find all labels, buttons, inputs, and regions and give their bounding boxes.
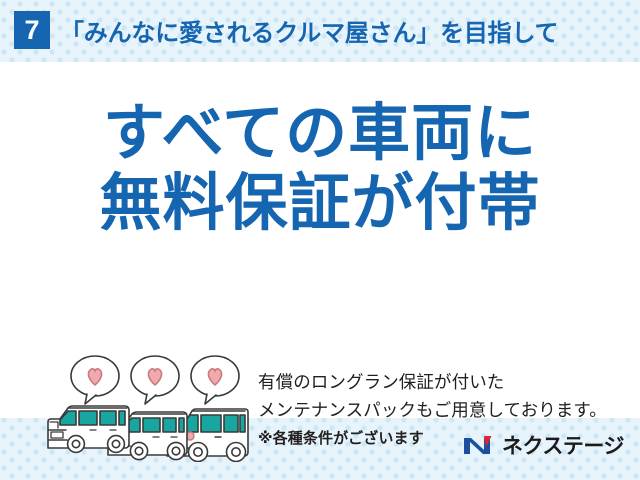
- note-line-1: 有償のロングラン保証が付いた: [258, 368, 630, 396]
- header-title: 「みんなに愛されるクルマ屋さん」を目指して: [60, 13, 558, 48]
- brand-logo: ネクステージ: [462, 430, 624, 460]
- brand-logo-text: ネクステージ: [502, 430, 624, 460]
- slide-header: 7 「みんなに愛されるクルマ屋さん」を目指して: [0, 0, 640, 62]
- speech-bubble-3: [191, 356, 239, 404]
- speech-bubble-2: [131, 356, 179, 404]
- headline: すべての車両に 無料保証が付帯: [0, 102, 640, 237]
- content-card: すべての車両に 無料保証が付帯: [0, 62, 640, 418]
- slide-footer: ネクステージ: [0, 418, 640, 480]
- nexstage-n-logo-icon: [462, 433, 496, 457]
- section-number-badge: 7: [14, 11, 50, 49]
- promo-slide: 7 「みんなに愛されるクルマ屋さん」を目指して すべての車両に 無料保証が付帯: [0, 0, 640, 480]
- speech-bubble-1: [71, 356, 119, 404]
- headline-line-1: すべての車両に: [0, 102, 640, 166]
- headline-line-2: 無料保証が付帯: [0, 172, 640, 236]
